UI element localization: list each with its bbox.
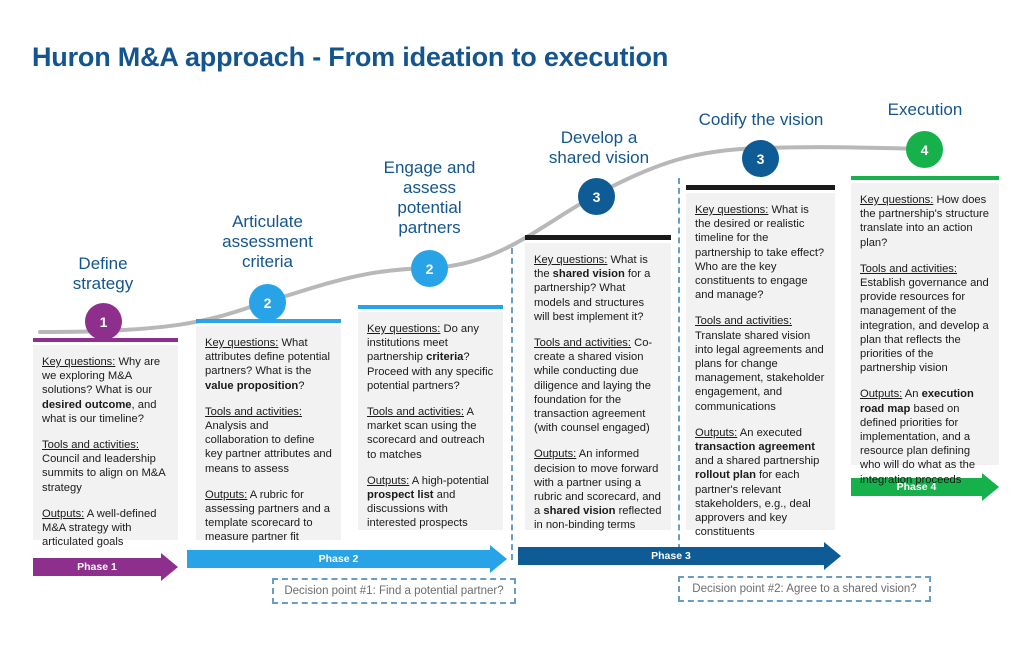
block-text: An executed transaction agreement and a …: [695, 427, 819, 538]
emphasis-text: desired outcome: [42, 399, 132, 411]
step-circle-5[interactable]: 3: [742, 140, 779, 177]
card-block: Key questions: What is the shared vision…: [534, 253, 662, 324]
card-block: Outputs: An informed decision to move fo…: [534, 447, 662, 532]
step-card-2: Key questions: What attributes define po…: [196, 326, 341, 540]
block-label: Outputs:: [205, 489, 247, 501]
step-card-1: Key questions: Why are we exploring M&A …: [33, 345, 178, 540]
plain-text: A high-potential: [409, 475, 489, 487]
block-text: What is the desired or realistic timelin…: [695, 204, 824, 301]
step-card-3: Key questions: Do any institutions meet …: [358, 312, 503, 530]
block-text: Co-create a shared vision while conducti…: [534, 337, 652, 434]
phase-label: Phase 3: [651, 550, 691, 562]
block-label: Key questions:: [534, 254, 607, 266]
plain-text: Analysis and collaboration to define key…: [205, 420, 332, 475]
plain-text: Council and leadership summits to align …: [42, 453, 165, 493]
step-heading-line: Codify the vision: [699, 110, 824, 129]
step-circle-6[interactable]: 4: [906, 131, 943, 168]
decision-point-2[interactable]: Decision point #2: Agree to a shared vis…: [678, 576, 931, 602]
block-label: Outputs:: [695, 427, 737, 439]
block-label: Outputs:: [534, 448, 576, 460]
decision-label: Decision point #2: Agree to a shared vis…: [692, 583, 916, 595]
plain-text: based on defined priorities for implemen…: [860, 403, 975, 486]
card-body: Key questions: What is the shared vision…: [525, 243, 671, 543]
card-block: Tools and activities: A market scan usin…: [367, 405, 494, 462]
step-heading-5: Codify the vision: [686, 110, 836, 130]
plain-text: and a shared partnership: [695, 455, 819, 467]
card-accent-bar: [358, 305, 503, 309]
block-text: Translate shared vision into legal agree…: [695, 330, 824, 413]
step-circle-1[interactable]: 1: [85, 303, 122, 340]
emphasis-text: prospect list: [367, 489, 434, 501]
card-block: Key questions: Do any institutions meet …: [367, 322, 494, 393]
card-body: Key questions: What attributes define po…: [196, 326, 341, 555]
step-number: 2: [264, 295, 272, 311]
card-block: Outputs: An execution road map based on …: [860, 387, 990, 486]
phase-arrow-shaft: Phase 1: [33, 558, 161, 576]
block-label: Key questions:: [860, 194, 933, 206]
emphasis-text: shared vision: [553, 268, 625, 280]
emphasis-text: value proposition: [205, 380, 298, 392]
card-body: Key questions: Why are we exploring M&A …: [33, 345, 178, 559]
card-body: Key questions: Do any institutions meet …: [358, 312, 503, 541]
card-accent-bar: [686, 185, 835, 190]
phase-label: Phase 2: [319, 553, 359, 565]
step-number: 3: [593, 189, 601, 205]
decision-label: Decision point #1: Find a potential part…: [284, 585, 503, 597]
plain-text: Establish governance and provide resourc…: [860, 277, 989, 374]
page-title: Huron M&A approach - From ideation to ex…: [32, 42, 668, 73]
block-label: Outputs:: [860, 388, 902, 400]
card-block: Outputs: A high-potential prospect list …: [367, 474, 494, 531]
emphasis-text: shared vision: [543, 505, 615, 517]
card-block: Outputs: A well-defined M&A strategy wit…: [42, 507, 169, 550]
card-block: Tools and activities: Establish governan…: [860, 262, 990, 376]
phase-arrow-head: [490, 545, 507, 573]
infographic-canvas: Huron M&A approach - From ideation to ex…: [0, 0, 1024, 653]
section-divider-2: [678, 178, 680, 560]
step-heading-line: Define strategy: [73, 254, 133, 293]
block-label: Key questions:: [205, 337, 278, 349]
card-block: Tools and activities: Translate shared v…: [695, 314, 826, 413]
step-heading-4: Develop a shared vision: [525, 128, 673, 168]
block-label: Outputs:: [367, 475, 409, 487]
step-heading-line: Execution: [888, 100, 963, 119]
step-card-5: Key questions: What is the desired or re…: [686, 193, 835, 530]
block-label: Key questions:: [695, 204, 768, 216]
block-label: Key questions:: [367, 323, 440, 335]
step-number: 3: [757, 151, 765, 167]
step-circle-2[interactable]: 2: [249, 284, 286, 321]
card-block: Key questions: What is the desired or re…: [695, 203, 826, 302]
plain-text: An: [902, 388, 921, 400]
step-number: 1: [100, 314, 108, 330]
step-card-6: Key questions: How does the partnership'…: [851, 183, 999, 465]
card-accent-bar: [851, 176, 999, 180]
step-card-4: Key questions: What is the shared vision…: [525, 243, 671, 530]
step-heading-1: Define strategy: [33, 254, 173, 294]
step-number: 2: [426, 261, 434, 277]
phase-label: Phase 1: [77, 561, 117, 573]
plain-text: Co-create a shared vision while conducti…: [534, 337, 652, 434]
block-text: Analysis and collaboration to define key…: [205, 420, 332, 475]
block-label: Tools and activities:: [695, 315, 792, 327]
card-body: Key questions: What is the desired or re…: [686, 193, 835, 549]
step-heading-line: Articulate assessment criteria: [222, 212, 313, 271]
block-label: Tools and activities:: [367, 406, 464, 418]
card-block: Outputs: A rubric for assessing partners…: [205, 488, 332, 545]
block-text: Establish governance and provide resourc…: [860, 277, 989, 374]
block-label: Outputs:: [42, 508, 84, 520]
block-text: An informed decision to move forward wit…: [534, 448, 662, 531]
step-number: 4: [921, 142, 929, 158]
step-heading-3: Engage and assess potential partners: [358, 158, 501, 238]
step-heading-2: Articulate assessment criteria: [196, 212, 339, 272]
block-text: Council and leadership summits to align …: [42, 453, 165, 493]
block-label: Tools and activities:: [42, 439, 139, 451]
emphasis-text: rollout plan: [695, 469, 756, 481]
block-text: An execution road map based on defined p…: [860, 388, 975, 485]
block-label: Tools and activities:: [534, 337, 631, 349]
card-accent-bar: [525, 235, 671, 240]
card-body: Key questions: How does the partnership'…: [851, 183, 999, 497]
phase-arrow-shaft: Phase 3: [518, 547, 824, 565]
section-divider-1: [511, 248, 513, 560]
step-circle-4[interactable]: 3: [578, 178, 615, 215]
block-label: Key questions:: [42, 356, 115, 368]
card-block: Tools and activities: Analysis and colla…: [205, 405, 332, 476]
card-block: Tools and activities: Co-create a shared…: [534, 336, 662, 435]
card-block: Tools and activities: Council and leader…: [42, 438, 169, 495]
card-block: Outputs: An executed transaction agreeme…: [695, 426, 826, 540]
block-label: Tools and activities:: [205, 406, 302, 418]
card-block: Key questions: What attributes define po…: [205, 336, 332, 393]
plain-text: What is the desired or realistic timelin…: [695, 204, 824, 301]
plain-text: ?: [298, 380, 304, 392]
card-block: Key questions: How does the partnership'…: [860, 193, 990, 250]
step-heading-6: Execution: [851, 100, 999, 120]
plain-text: An executed: [737, 427, 802, 439]
decision-point-1[interactable]: Decision point #1: Find a potential part…: [272, 578, 516, 604]
emphasis-text: criteria: [426, 351, 463, 363]
card-block: Key questions: Why are we exploring M&A …: [42, 355, 169, 426]
step-heading-line: Develop a shared vision: [549, 128, 649, 167]
plain-text: Translate shared vision into legal agree…: [695, 330, 824, 413]
block-label: Tools and activities:: [860, 263, 957, 275]
emphasis-text: transaction agreement: [695, 441, 815, 453]
step-heading-line: Engage and assess potential partners: [384, 158, 476, 237]
step-circle-3[interactable]: 2: [411, 250, 448, 287]
